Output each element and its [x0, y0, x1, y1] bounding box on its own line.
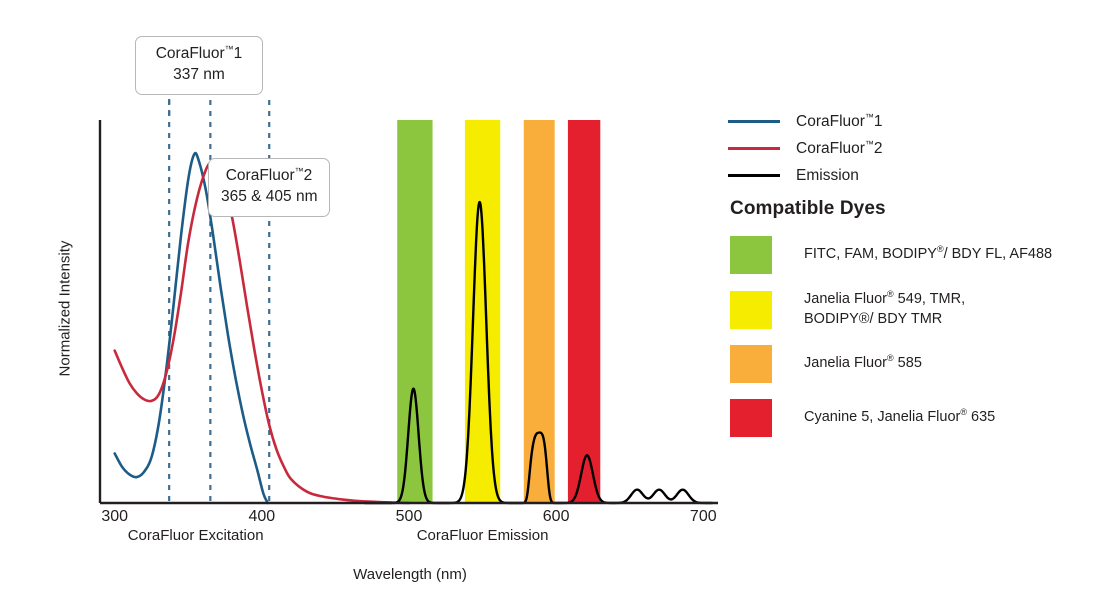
dye-label-line1-suffix: / BDY FL, AF488: [944, 246, 1053, 262]
legend-label-text: Emission: [796, 167, 859, 184]
spectra-plot: [0, 0, 760, 560]
legend-label-suffix: 2: [874, 140, 883, 157]
dye-label: FITC, FAM, BODIPY®/ BDY FL, AF488: [804, 245, 1052, 265]
yellow-band: [465, 120, 500, 503]
dye-label-line1-suffix: 585: [894, 355, 922, 371]
callout-corafluor1: CoraFluor™1 337 nm: [135, 36, 263, 95]
legend-label-text: CoraFluor: [796, 113, 865, 130]
axis-region-label-emission: CoraFluor Emission: [373, 527, 593, 544]
x-tick-label-700: 700: [673, 508, 733, 526]
legend-item-label: Emission: [796, 167, 859, 185]
axis-region-label-excitation: CoraFluor Excitation: [86, 527, 306, 544]
legend-line-swatch: [728, 147, 780, 150]
x-tick-label-500: 500: [379, 508, 439, 526]
dye-color-swatch: [730, 291, 772, 329]
dye-label: Cyanine 5, Janelia Fluor® 635: [804, 408, 995, 428]
dye-list-item: Janelia Fluor® 549, TMR,BODIPY®/ BDY TMR: [730, 290, 1105, 329]
dye-label: Janelia Fluor® 585: [804, 354, 922, 374]
fluorescence-spectra-figure: CoraFluor™1 337 nm CoraFluor™2 365 & 405…: [0, 0, 1110, 612]
x-tick-label-400: 400: [232, 508, 292, 526]
y-axis-title: Normalized Intensity: [57, 214, 74, 404]
callout-corafluor1-line1: CoraFluor™1: [148, 44, 250, 65]
dye-label-line1: Janelia Fluor: [804, 355, 887, 371]
legend-label-suffix: 1: [874, 113, 883, 130]
dye-list-item: Janelia Fluor® 585: [730, 345, 1105, 383]
dye-list-item: Cyanine 5, Janelia Fluor® 635: [730, 399, 1105, 437]
legend-item: CoraFluor™1: [728, 108, 1098, 135]
dye-label: Janelia Fluor® 549, TMR,BODIPY®/ BDY TMR: [804, 290, 965, 329]
trademark-icon: ™: [865, 138, 874, 148]
dye-label-line1-suffix: 549, TMR,: [894, 291, 965, 307]
trademark-icon: ™: [295, 166, 304, 176]
trademark-icon: ™: [865, 111, 874, 121]
x-tick-label-300: 300: [85, 508, 145, 526]
callout-corafluor2-name: CoraFluor: [226, 167, 295, 184]
registered-icon: ®: [887, 354, 894, 364]
x-axis-title: Wavelength (nm): [0, 566, 820, 583]
callout-corafluor1-number: 1: [234, 45, 243, 62]
callout-corafluor2: CoraFluor™2 365 & 405 nm: [208, 158, 330, 217]
callout-corafluor2-line1: CoraFluor™2: [221, 166, 317, 187]
dye-label-line1: FITC, FAM, BODIPY: [804, 246, 937, 262]
callout-corafluor2-number: 2: [304, 167, 313, 184]
legend-item: CoraFluor™2: [728, 135, 1098, 162]
red-band: [568, 120, 600, 503]
registered-icon: ®: [887, 289, 894, 299]
dye-label-line1-suffix: 635: [967, 409, 995, 425]
registered-icon: ®: [937, 244, 944, 254]
legend-line-swatch: [728, 174, 780, 177]
dye-label-line2: BODIPY®/ BDY TMR: [804, 310, 965, 330]
callout-corafluor2-line2: 365 & 405 nm: [221, 187, 317, 208]
dye-color-swatch: [730, 345, 772, 383]
dye-list-item: FITC, FAM, BODIPY®/ BDY FL, AF488: [730, 236, 1105, 274]
legend-label-text: CoraFluor: [796, 140, 865, 157]
dye-label-line1: Cyanine 5, Janelia Fluor: [804, 409, 960, 425]
dye-color-swatch: [730, 399, 772, 437]
orange-band: [524, 120, 555, 503]
dye-label-line1: Janelia Fluor: [804, 291, 887, 307]
compatible-dyes-panel: Compatible Dyes FITC, FAM, BODIPY®/ BDY …: [730, 198, 1105, 453]
x-tick-label-600: 600: [526, 508, 586, 526]
compatible-dyes-title: Compatible Dyes: [730, 198, 1105, 220]
legend-item: Emission: [728, 162, 1098, 189]
legend-item-label: CoraFluor™2: [796, 140, 883, 158]
legend-line-swatch: [728, 120, 780, 123]
green-band: [397, 120, 432, 503]
callout-corafluor1-name: CoraFluor: [156, 45, 225, 62]
callout-corafluor1-line2: 337 nm: [148, 65, 250, 86]
series-legend: CoraFluor™1 CoraFluor™2 Emission: [728, 108, 1098, 189]
trademark-icon: ™: [225, 44, 234, 54]
legend-item-label: CoraFluor™1: [796, 113, 883, 131]
dye-color-swatch: [730, 236, 772, 274]
